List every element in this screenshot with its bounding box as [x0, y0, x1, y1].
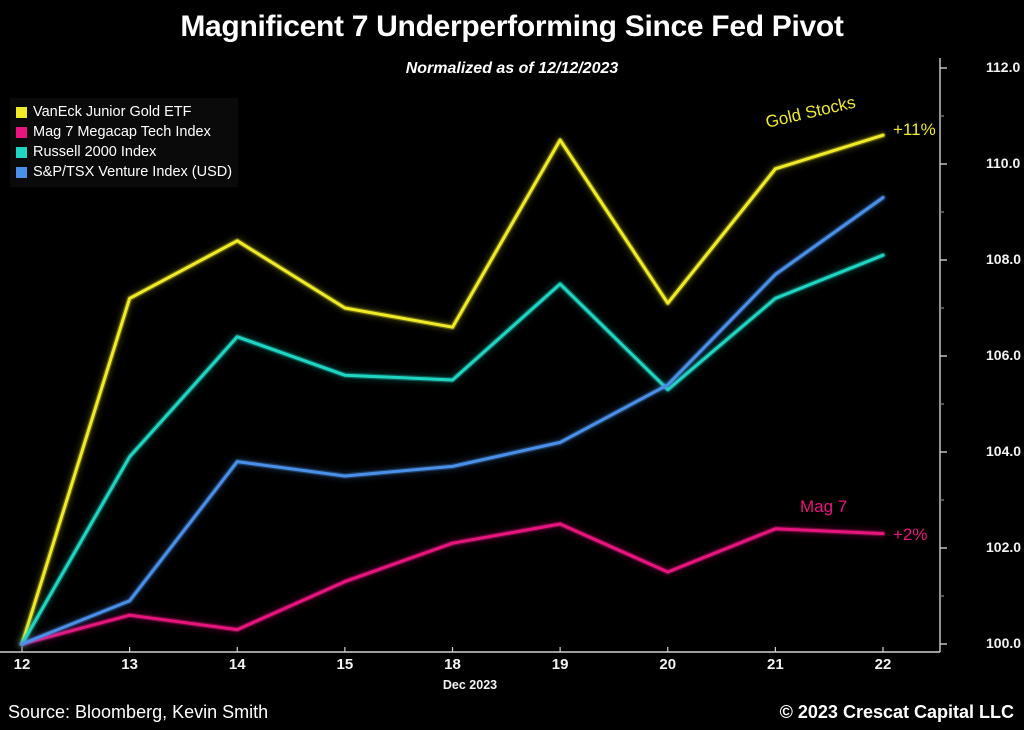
copyright-note: © 2023 Crescat Capital LLC [780, 702, 1014, 723]
x-axis-tick-label: 15 [335, 656, 355, 673]
y-axis-tick-label: 112.0 [986, 59, 1020, 75]
series-glow-2 [22, 255, 883, 644]
x-axis-tick-label: 14 [227, 656, 247, 673]
x-axis-tick-label: 22 [873, 656, 893, 673]
mag7-pct-annotation: +2% [893, 525, 928, 545]
plot-area [0, 0, 1024, 730]
y-axis-tick-label: 104.0 [986, 443, 1021, 459]
series-line-1 [22, 524, 883, 644]
axes [0, 58, 947, 652]
x-axis-tick-label: 13 [120, 656, 140, 673]
chart-root: Magnificent 7 Underperforming Since Fed … [0, 0, 1024, 730]
x-axis-title: Dec 2023 [0, 678, 940, 692]
y-axis-tick-label: 108.0 [986, 251, 1021, 267]
y-axis-tick-label: 106.0 [986, 347, 1021, 363]
series-glow-0 [22, 135, 883, 644]
series-lines [22, 135, 883, 644]
x-axis-tick-label: 21 [765, 656, 785, 673]
gold-stocks-pct-annotation: +11% [893, 120, 936, 140]
series-glow-3 [22, 198, 883, 644]
mag7-annotation: Mag 7 [800, 497, 847, 517]
series-line-0 [22, 135, 883, 644]
y-axis-tick-label: 100.0 [986, 635, 1021, 651]
x-axis-tick-label: 18 [443, 656, 463, 673]
x-axis-tick-label: 20 [658, 656, 678, 673]
x-axis-tick-label: 12 [12, 656, 32, 673]
y-axis-tick-label: 102.0 [986, 539, 1021, 555]
y-axis-tick-label: 110.0 [986, 155, 1020, 171]
source-note: Source: Bloomberg, Kevin Smith [8, 702, 268, 723]
x-axis-tick-label: 19 [550, 656, 570, 673]
